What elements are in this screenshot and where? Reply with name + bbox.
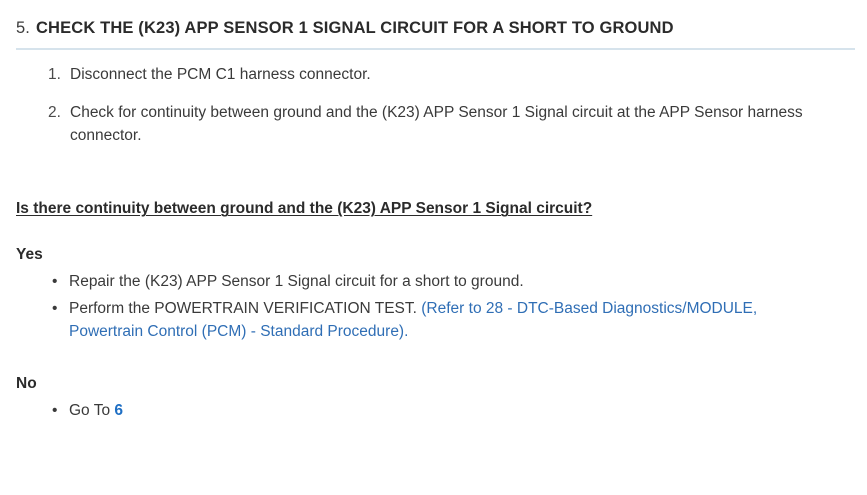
step-number: 5. [16, 18, 30, 39]
diagnostic-step-page: 5. CHECK THE (K23) APP SENSOR 1 SIGNAL C… [0, 0, 867, 495]
list-item: 1. Disconnect the PCM C1 harness connect… [0, 64, 867, 87]
list-item-text: Go To 6 [69, 399, 779, 422]
bullet-icon: • [52, 297, 69, 320]
page-title: 5. CHECK THE (K23) APP SENSOR 1 SIGNAL C… [0, 0, 867, 39]
list-item-text: Repair the (K23) APP Sensor 1 Signal cir… [69, 270, 779, 293]
answer-block-yes: Yes • Repair the (K23) APP Sensor 1 Sign… [0, 246, 867, 343]
answer-block-no: No • Go To 6 [0, 375, 867, 422]
answer-text-plain: Repair the (K23) APP Sensor 1 Signal cir… [69, 273, 524, 290]
list-item-text: Check for continuity between ground and … [70, 102, 864, 148]
goto-step-link[interactable]: 6 [114, 402, 123, 419]
action-list: 1. Disconnect the PCM C1 harness connect… [0, 64, 867, 148]
answer-list-no: • Go To 6 [0, 399, 867, 422]
list-item: • Perform the POWERTRAIN VERIFICATION TE… [0, 297, 867, 344]
step-title: CHECK THE (K23) APP SENSOR 1 SIGNAL CIRC… [36, 18, 674, 39]
bullet-icon: • [52, 270, 69, 293]
list-item-text: Perform the POWERTRAIN VERIFICATION TEST… [69, 297, 779, 344]
list-item-marker: 1. [48, 64, 70, 87]
bullet-icon: • [52, 399, 69, 422]
list-item: • Go To 6 [0, 399, 867, 422]
question-row: Is there continuity between ground and t… [0, 147, 867, 218]
answer-label-no: No [16, 375, 867, 393]
list-item: 2. Check for continuity between ground a… [0, 102, 867, 148]
list-item-text: Disconnect the PCM C1 harness connector. [70, 64, 864, 87]
goto-label: Go To [69, 402, 114, 419]
diagnostic-question: Is there continuity between ground and t… [16, 200, 592, 218]
answer-label-yes: Yes [16, 246, 867, 264]
list-item: • Repair the (K23) APP Sensor 1 Signal c… [0, 270, 867, 293]
list-item-marker: 2. [48, 102, 70, 125]
answer-list-yes: • Repair the (K23) APP Sensor 1 Signal c… [0, 270, 867, 343]
heading-divider [16, 48, 855, 50]
answer-text-plain: Perform the POWERTRAIN VERIFICATION TEST… [69, 300, 421, 317]
